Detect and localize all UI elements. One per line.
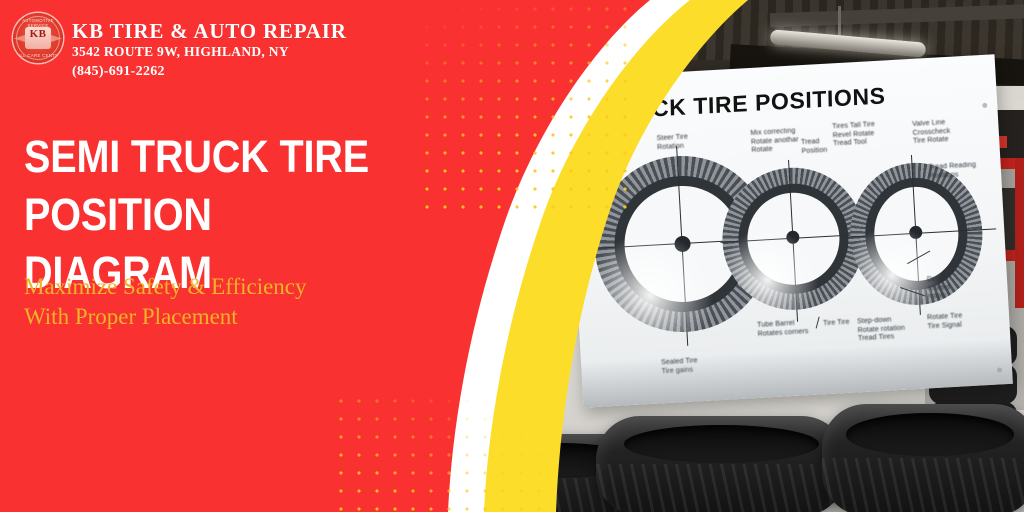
dot-pattern-bottom (332, 392, 542, 512)
promotional-banner: TRUCK TIRE POSITIONS (0, 0, 1024, 512)
hero-subhead: Maximize Safety & Efficiency With Proper… (24, 272, 454, 332)
brand-info: KB TIRE & AUTO REPAIR 3542 ROUTE 9W, HIG… (72, 20, 347, 81)
company-phone[interactable]: (845)-691-2262 (72, 63, 347, 81)
subhead-line-1: Maximize Safety & Efficiency (24, 272, 454, 302)
company-name: KB TIRE & AUTO REPAIR (72, 20, 347, 42)
logo-bottom-arc-text: FULL CARE CENTER (13, 53, 63, 58)
logo-initials: KB (13, 28, 63, 40)
subhead-line-2: With Proper Placement (24, 302, 454, 332)
headline-line-1: SEMI TRUCK TIRE POSITION (24, 128, 464, 244)
company-logo[interactable]: AUTOMOTIVE SERVICE KB FULL CARE CENTER (13, 13, 63, 63)
company-address: 3542 ROUTE 9W, HIGHLAND, NY (72, 43, 347, 60)
